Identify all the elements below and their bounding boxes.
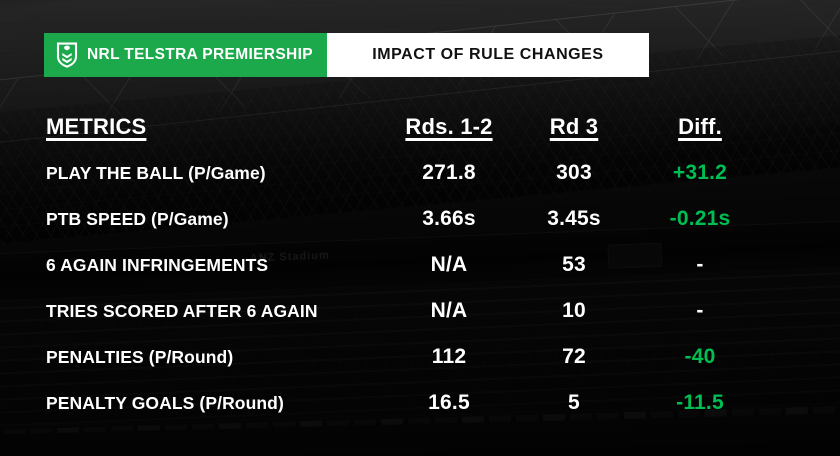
table-row: PTB SPEED (P/Game) 3.66s 3.45s -0.21s bbox=[0, 196, 840, 242]
row-value-rd-3: 303 bbox=[556, 161, 592, 185]
row-value-rd-3: 5 bbox=[568, 391, 580, 415]
row-metric-label: PENALTIES (P/Round) bbox=[46, 347, 233, 368]
row-value-diff: -40 bbox=[685, 345, 716, 369]
row-metric-label: TRIES SCORED AFTER 6 AGAIN bbox=[46, 301, 318, 322]
row-value-diff: -0.21s bbox=[670, 207, 731, 231]
table-header-row: METRICS Rds. 1-2 Rd 3 Diff. bbox=[0, 104, 840, 150]
row-value-rds-1-2: N/A bbox=[431, 299, 468, 323]
stats-table: METRICS Rds. 1-2 Rd 3 Diff. PLAY THE BAL… bbox=[0, 104, 840, 426]
row-value-rd-3: 72 bbox=[562, 345, 586, 369]
row-value-rds-1-2: 3.66s bbox=[422, 207, 476, 231]
row-value-diff: -11.5 bbox=[676, 391, 724, 415]
column-header-rd-3: Rd 3 bbox=[550, 114, 598, 140]
header-bar: NRL TELSTRA PREMIERSHIP IMPACT OF RULE C… bbox=[44, 33, 649, 77]
row-value-rds-1-2: 112 bbox=[432, 345, 466, 369]
column-header-metrics: METRICS bbox=[46, 114, 146, 140]
row-value-diff: +31.2 bbox=[673, 161, 727, 185]
row-metric-label: PENALTY GOALS (P/Round) bbox=[46, 393, 284, 414]
table-row: 6 AGAIN INFRINGEMENTS N/A 53 - bbox=[0, 242, 840, 288]
row-value-diff: - bbox=[696, 299, 703, 323]
column-header-diff: Diff. bbox=[678, 114, 722, 140]
page-title: IMPACT OF RULE CHANGES bbox=[372, 46, 603, 64]
column-header-rds-1-2: Rds. 1-2 bbox=[405, 114, 492, 140]
row-value-rd-3: 53 bbox=[562, 253, 586, 277]
table-row: PENALTY GOALS (P/Round) 16.5 5 -11.5 bbox=[0, 380, 840, 426]
row-value-rds-1-2: 16.5 bbox=[428, 391, 470, 415]
row-metric-label: 6 AGAIN INFRINGEMENTS bbox=[46, 255, 268, 276]
brand-chip: NRL TELSTRA PREMIERSHIP bbox=[44, 33, 327, 77]
nrl-shield-icon bbox=[56, 42, 78, 68]
row-value-rds-1-2: 271.8 bbox=[422, 161, 476, 185]
table-row: TRIES SCORED AFTER 6 AGAIN N/A 10 - bbox=[0, 288, 840, 334]
row-value-rds-1-2: N/A bbox=[431, 253, 468, 277]
row-value-diff: - bbox=[696, 253, 703, 277]
title-chip: IMPACT OF RULE CHANGES bbox=[327, 33, 649, 77]
row-metric-label: PLAY THE BALL (P/Game) bbox=[46, 163, 266, 184]
row-value-rd-3: 10 bbox=[562, 299, 586, 323]
row-metric-label: PTB SPEED (P/Game) bbox=[46, 209, 229, 230]
infographic-card: ANZ Stadium NRL TELSTRA PREMIERSHIP IMPA… bbox=[0, 0, 840, 456]
table-row: PENALTIES (P/Round) 112 72 -40 bbox=[0, 334, 840, 380]
brand-label: NRL TELSTRA PREMIERSHIP bbox=[87, 46, 313, 64]
table-row: PLAY THE BALL (P/Game) 271.8 303 +31.2 bbox=[0, 150, 840, 196]
row-value-rd-3: 3.45s bbox=[547, 207, 601, 231]
